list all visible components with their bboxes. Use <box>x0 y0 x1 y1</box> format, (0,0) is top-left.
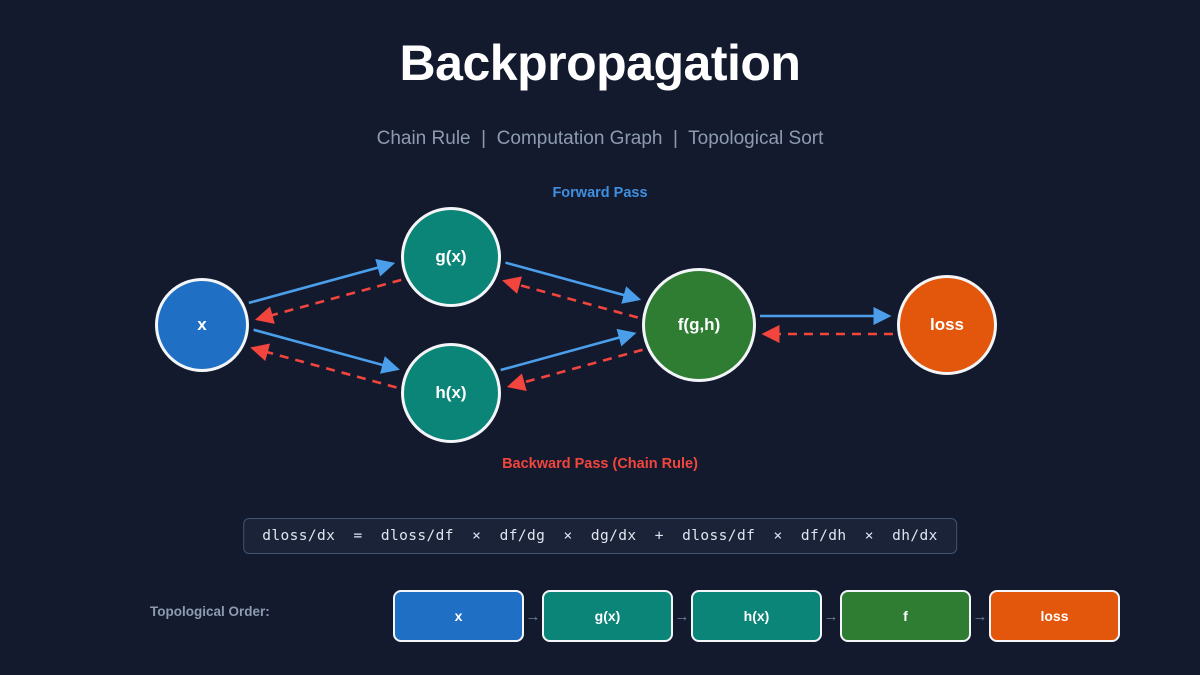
topological-arrow-icon: → <box>971 609 989 624</box>
edge-h-to-x <box>253 348 397 387</box>
edge-f-to-g <box>505 281 638 318</box>
graph-node-h[interactable]: h(x) <box>401 343 501 443</box>
edge-g-to-f <box>505 263 638 300</box>
forward-edge-group <box>249 263 889 370</box>
topological-arrow-icon: → <box>673 609 691 624</box>
topological-arrow-icon: → <box>524 609 542 624</box>
graph-node-f[interactable]: f(g,h) <box>642 268 756 382</box>
graph-node-label: loss <box>930 315 964 335</box>
edge-x-to-h <box>254 330 398 369</box>
graph-node-label: h(x) <box>435 383 466 403</box>
topological-box-4[interactable]: loss <box>989 590 1120 642</box>
topological-order-boxes: x→g(x)→h(x)→f→loss <box>393 590 1120 642</box>
chain-rule-formula: dloss/dx = dloss/df × df/dg × dg/dx + dl… <box>243 518 957 554</box>
edge-x-to-g <box>249 264 393 303</box>
edge-g-to-x <box>257 280 401 319</box>
topological-box-3[interactable]: f <box>840 590 971 642</box>
topological-order-row: Topological Order: x→g(x)→h(x)→f→loss <box>0 590 1200 646</box>
graph-node-x[interactable]: x <box>155 278 249 372</box>
graph-node-loss[interactable]: loss <box>897 275 997 375</box>
edge-h-to-f <box>501 334 634 371</box>
slide-canvas: Backpropagation Chain Rule | Computation… <box>0 0 1200 675</box>
topological-box-0[interactable]: x <box>393 590 524 642</box>
topological-box-1[interactable]: g(x) <box>542 590 673 642</box>
topological-box-2[interactable]: h(x) <box>691 590 822 642</box>
topological-box-label: loss <box>1040 608 1068 624</box>
topological-box-label: x <box>455 608 463 624</box>
graph-node-label: x <box>197 315 206 335</box>
backward-edge-group <box>253 280 893 388</box>
graph-node-label: f(g,h) <box>678 315 720 335</box>
graph-node-label: g(x) <box>435 247 466 267</box>
topological-arrow-icon: → <box>822 609 840 624</box>
topological-order-label: Topological Order: <box>150 604 270 619</box>
topological-box-label: g(x) <box>595 608 621 624</box>
graph-node-g[interactable]: g(x) <box>401 207 501 307</box>
topological-box-label: h(x) <box>744 608 770 624</box>
edge-f-to-h <box>509 350 642 387</box>
topological-box-label: f <box>903 608 908 624</box>
